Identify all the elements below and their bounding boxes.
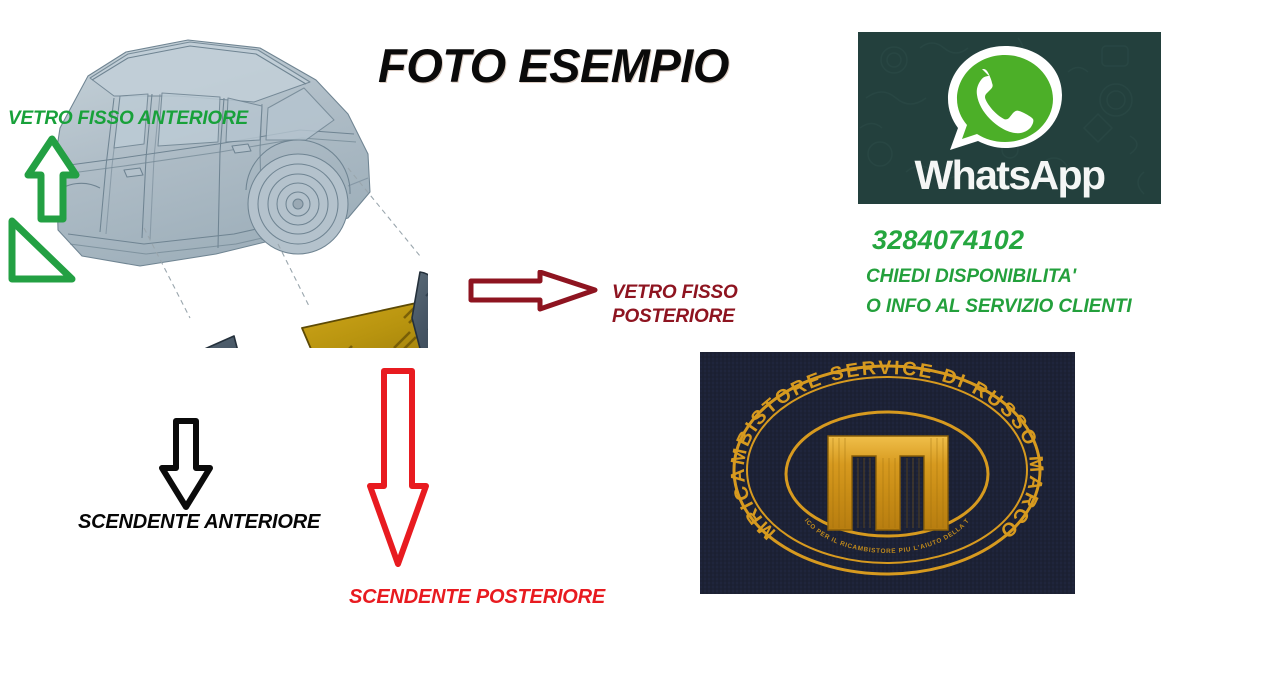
arrow-down-outline-icon (366, 368, 430, 568)
poster-canvas: 14 16 17 (0, 0, 1264, 678)
label-vetro-fisso-posteriore: VETRO FISSO POSTERIORE (612, 281, 842, 329)
label-scendente-posteriore: SCENDENTE POSTERIORE (349, 586, 669, 609)
triangle-outline-icon (12, 221, 72, 279)
whatsapp-banner: WhatsApp (858, 32, 1161, 204)
label-line-1: VETRO FISSO (612, 281, 842, 305)
car-exploded-diagram: 14 16 17 (48, 18, 428, 348)
arrow-right-outline-icon (468, 270, 598, 312)
label-vetro-fisso-anteriore: VETRO FISSO ANTERIORE (8, 108, 308, 130)
shop-logo-banner: MRICAMBISTORE SERVICE DI RUSSO MARCO (700, 352, 1075, 594)
page-title: FOTO ESEMPIO (378, 38, 798, 93)
label-line-2: POSTERIORE (612, 305, 842, 329)
whatsapp-wordmark: WhatsApp (858, 152, 1161, 199)
arrow-up-outline-icon (6, 135, 86, 285)
phone-number[interactable]: 3284074102 (872, 225, 1192, 256)
shop-logo-emblem: MRICAMBISTORE SERVICE DI RUSSO MARCO (700, 352, 1075, 594)
label-scendente-anteriore: SCENDENTE ANTERIORE (78, 511, 378, 534)
contact-line-customer-service: O INFO AL SERVIZIO CLIENTI (866, 296, 1226, 318)
arrow-down-outline-icon (158, 418, 214, 510)
whatsapp-phone-bubble-icon (942, 42, 1068, 154)
contact-line-availability: CHIEDI DISPONIBILITA' (866, 266, 1226, 288)
